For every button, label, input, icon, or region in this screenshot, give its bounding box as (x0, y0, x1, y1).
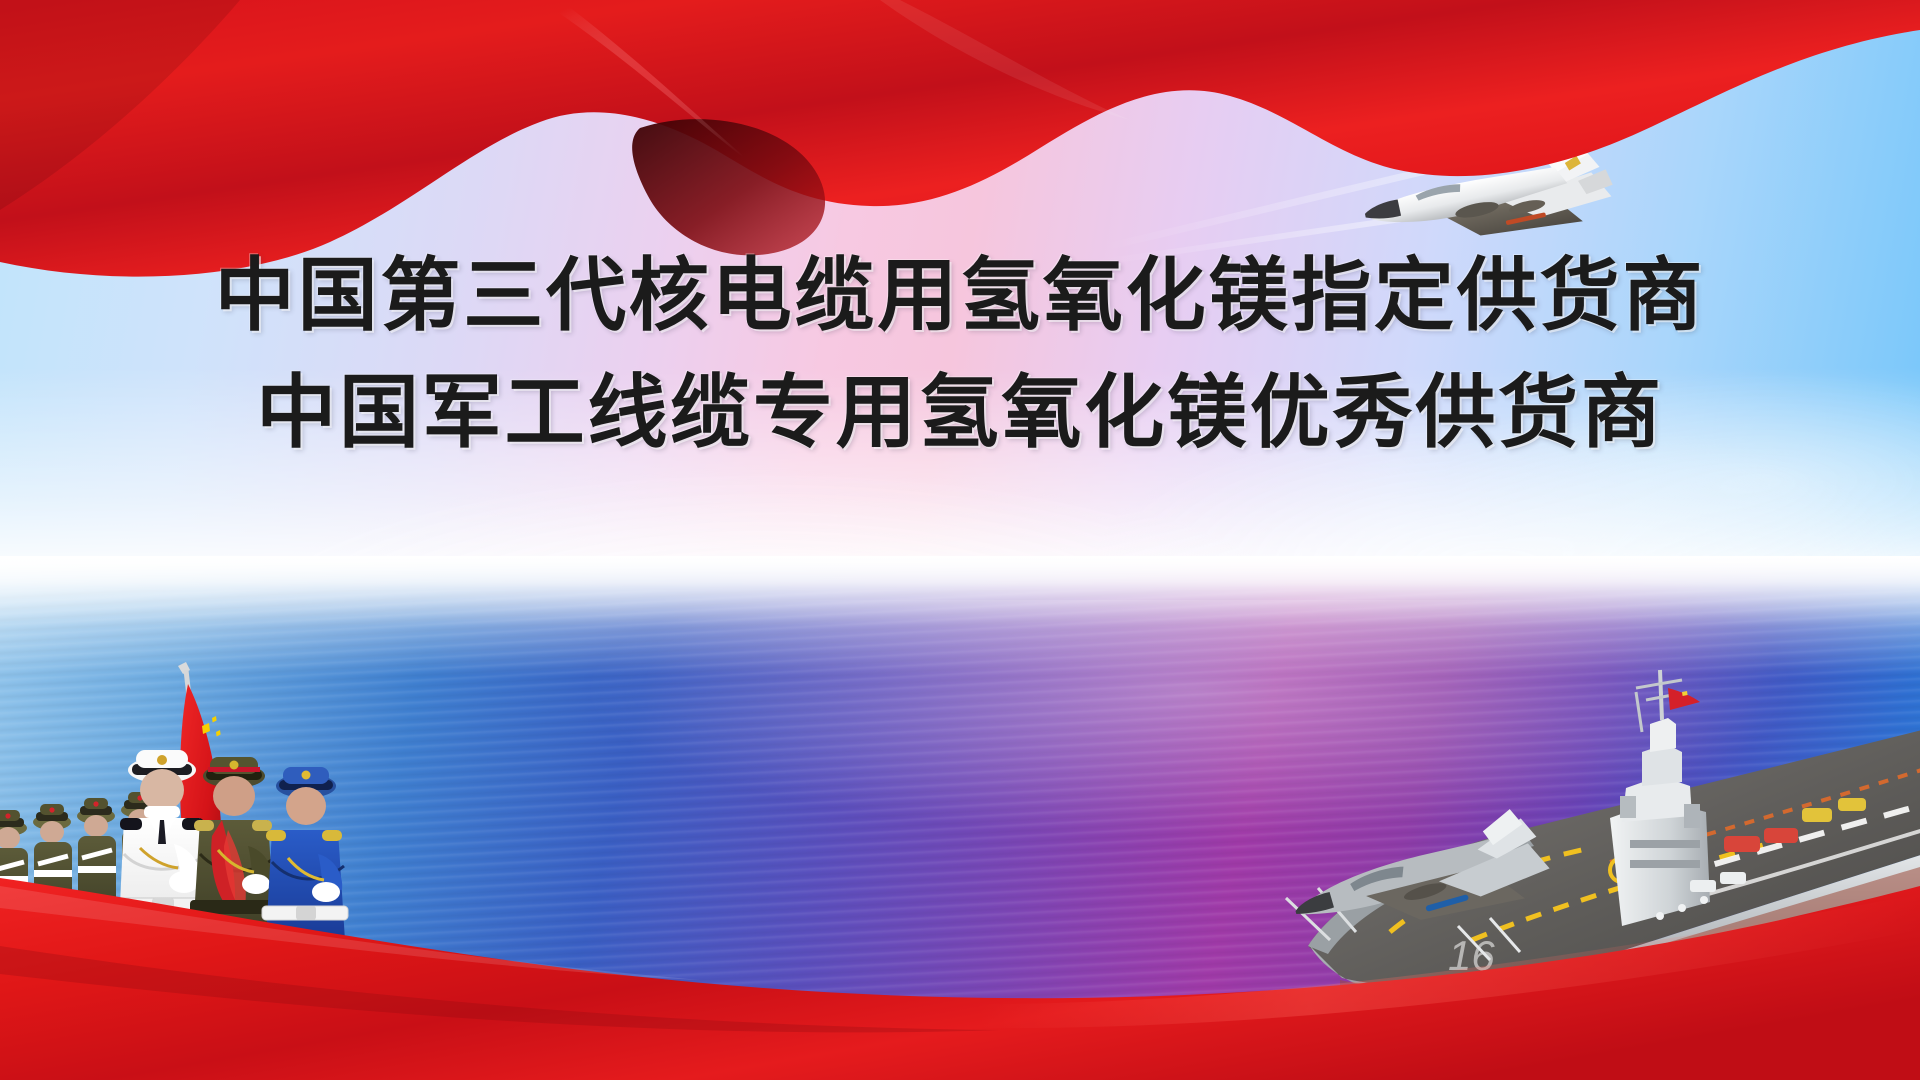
red-ribbon-banner (0, 790, 1920, 1080)
waving-red-flag-top (0, 0, 1920, 260)
banner-stage: 16 (0, 0, 1920, 1080)
